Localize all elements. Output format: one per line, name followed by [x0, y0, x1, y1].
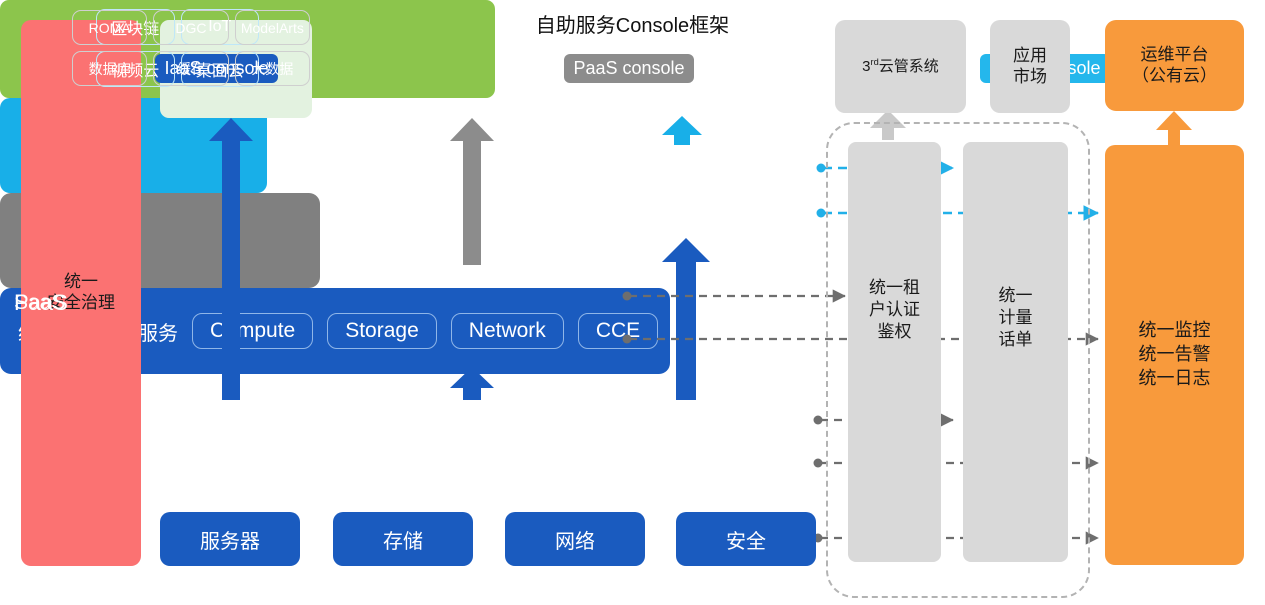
arrow-saas-to-console-framework: [662, 116, 702, 145]
resource-label-network: 网络: [555, 525, 595, 554]
paas-service-roma[interactable]: ROMA: [72, 10, 147, 45]
resource-label-server: 服务器: [200, 525, 260, 554]
paas-service-database[interactable]: 数据库: [72, 51, 147, 86]
resource-box-storage[interactable]: 存储: [333, 512, 473, 566]
unified-tenant-auth-label: 统一租 户认证 鉴权: [848, 277, 941, 342]
third-cloud-suffix: 云管系统: [879, 58, 939, 75]
app-market-line-1: 应用: [1013, 46, 1047, 67]
paas-service-bigdata[interactable]: 大数据: [235, 51, 310, 86]
paas-label: PaaS: [14, 0, 68, 605]
paas-layer-box[interactable]: PaaS ROMA DGC ModelArts 数据库 缓存 大数据: [0, 193, 320, 288]
auth-line-2: 户认证: [848, 299, 941, 321]
paas-service-cache[interactable]: 缓存: [153, 51, 228, 86]
resource-label-storage: 存储: [383, 525, 423, 554]
unified-metering-column: [963, 142, 1068, 562]
third-cloud-superscript: rd: [871, 57, 879, 67]
metering-line-1: 统一: [963, 285, 1068, 307]
paas-service-grid: ROMA DGC ModelArts 数据库 缓存 大数据: [72, 10, 310, 86]
ops-column-line-1: 统一监控: [1139, 319, 1211, 343]
app-market-line-2: 市场: [1013, 67, 1047, 88]
arrow-ops-column-to-ops-platform: [1156, 111, 1192, 145]
metering-line-3: 话单: [963, 329, 1068, 351]
infra-service-network[interactable]: Network: [451, 313, 564, 349]
paas-service-dgc[interactable]: DGC: [153, 10, 228, 45]
ops-column-line-3: 统一日志: [1139, 367, 1211, 391]
resource-label-security: 安全: [726, 525, 766, 554]
unified-tenant-auth-column: [848, 142, 941, 562]
resource-box-security[interactable]: 安全: [676, 512, 816, 566]
diagram-canvas: 统一租 户认证 鉴权 统一 计量 话单 统一 安全治理 API网关 自助服务Co…: [0, 0, 1265, 605]
infra-service-row: Compute Storage Network CCE: [192, 313, 658, 349]
ops-platform-line-2: （公有云）: [1132, 66, 1217, 87]
unified-metering-label: 统一 计量 话单: [963, 285, 1068, 350]
resource-box-network[interactable]: 网络: [505, 512, 645, 566]
arrow-paas-to-console-framework: [450, 118, 494, 265]
auth-line-1: 统一租: [848, 277, 941, 299]
app-market-box[interactable]: 应用 市场: [990, 20, 1070, 113]
paas-service-modelarts[interactable]: ModelArts: [235, 10, 310, 45]
ops-platform-public-cloud-box[interactable]: 运维平台 （公有云）: [1105, 20, 1244, 111]
third-party-cloud-management-box[interactable]: 3rd云管系统: [835, 20, 966, 113]
infra-service-compute[interactable]: Compute: [192, 313, 313, 349]
ops-column-line-2: 统一告警: [1139, 343, 1211, 367]
paas-console-chip[interactable]: PaaS console: [564, 54, 693, 83]
unified-monitoring-column[interactable]: 统一监控 统一告警 统一日志: [1105, 145, 1244, 565]
metering-line-2: 计量: [963, 307, 1068, 329]
infra-service-cce[interactable]: CCE: [578, 313, 658, 349]
resource-box-server[interactable]: 服务器: [160, 512, 300, 566]
ops-platform-line-1: 运维平台: [1132, 45, 1217, 66]
third-cloud-prefix: 3: [862, 58, 870, 75]
auth-line-3: 鉴权: [848, 321, 941, 343]
third-cloud-label: 3rd云管系统: [862, 57, 939, 76]
infra-service-storage[interactable]: Storage: [327, 313, 437, 349]
